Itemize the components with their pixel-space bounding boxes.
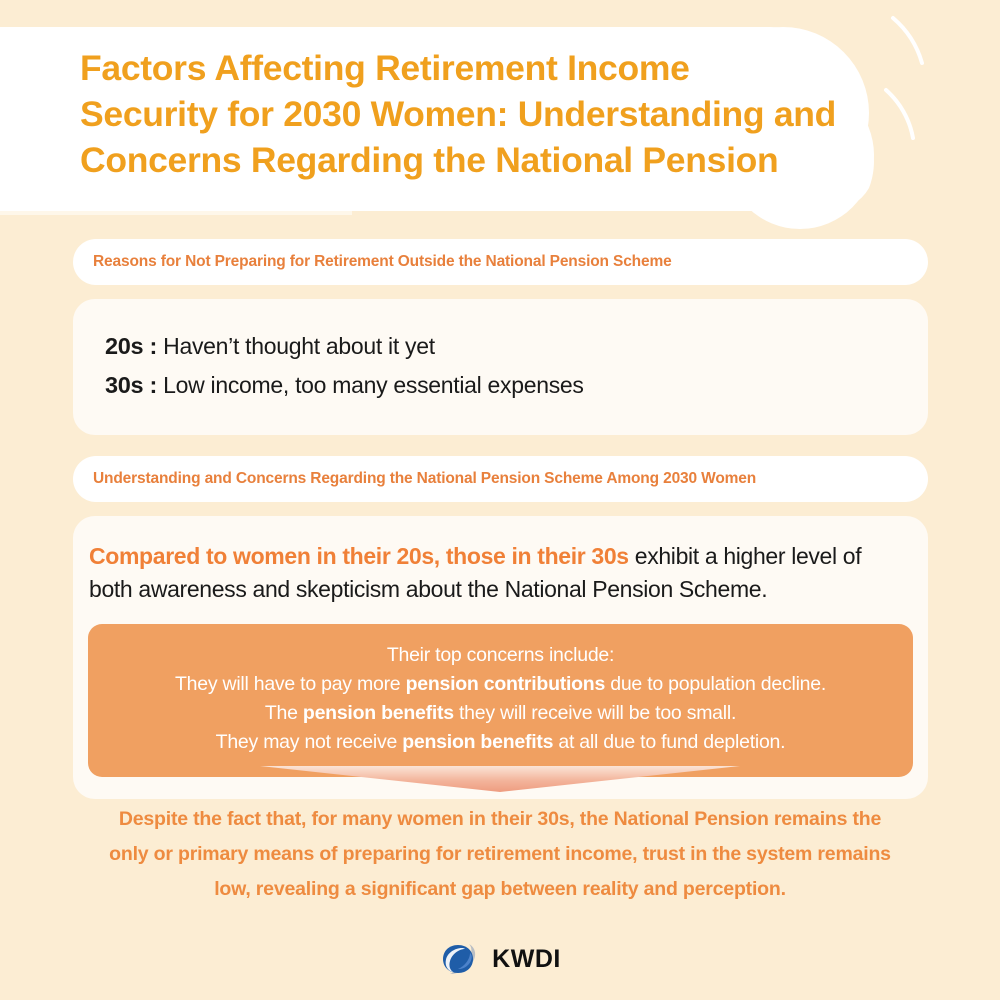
reason-text: Low income, too many essential expenses [163, 372, 583, 398]
list-item: 20s : Haven’t thought about it yet [105, 327, 896, 366]
concern-item: They may not receive pension benefits at… [108, 728, 893, 757]
concern-text-post: they will receive will be too small. [454, 702, 736, 724]
concern-text-pre: They may not receive [216, 731, 403, 753]
concern-item: The pension benefits they will receive w… [108, 699, 893, 728]
section-header-label: Understanding and Concerns Regarding the… [93, 470, 756, 488]
concern-item: They will have to pay more pension contr… [108, 670, 893, 699]
decorative-arc-icon [893, 18, 922, 63]
concern-text-post: at all due to fund depletion. [553, 731, 785, 753]
section-header-label: Reasons for Not Preparing for Retirement… [93, 253, 672, 271]
reason-age-label: 30s : [105, 372, 157, 398]
concern-text-post: due to population decline. [605, 673, 826, 695]
conclusion-text: Despite the fact that, for many women in… [100, 802, 900, 907]
reasons-card: 20s : Haven’t thought about it yet 30s :… [73, 299, 928, 435]
reason-age-label: 20s : [105, 333, 157, 359]
header-underline-rule [0, 211, 352, 215]
lede-paragraph: Compared to women in their 20s, those in… [73, 540, 928, 606]
section-reasons-for-not-preparing: Reasons for Not Preparing for Retirement… [73, 239, 928, 435]
concerns-intro: Their top concerns include: [108, 641, 893, 670]
top-concerns-box: Their top concerns include: They will ha… [88, 624, 913, 777]
footer-logo: KWDI [0, 942, 1000, 976]
section-understanding-and-concerns: Understanding and Concerns Regarding the… [73, 456, 928, 799]
page-title: Factors Affecting Retirement Income Secu… [80, 45, 870, 183]
header-banner: Factors Affecting Retirement Income Secu… [0, 0, 1000, 230]
list-item: 30s : Low income, too many essential exp… [105, 366, 896, 405]
concern-text-bold: pension contributions [406, 673, 606, 695]
section-header-pill-understanding: Understanding and Concerns Regarding the… [73, 456, 928, 502]
understanding-card: Compared to women in their 20s, those in… [73, 516, 928, 799]
kwdi-swirl-logo-icon [439, 942, 483, 976]
reason-text: Haven’t thought about it yet [163, 333, 435, 359]
concern-text-pre: The [265, 702, 303, 724]
lede-highlight: Compared to women in their 20s, those in… [89, 543, 629, 569]
concern-text-bold: pension benefits [402, 731, 553, 753]
section-header-pill-reasons: Reasons for Not Preparing for Retirement… [73, 239, 928, 285]
concern-text-pre: They will have to pay more [175, 673, 406, 695]
concern-text-bold: pension benefits [303, 702, 454, 724]
decorative-arc-icon [886, 90, 913, 138]
logo-wordmark: KWDI [492, 945, 561, 974]
